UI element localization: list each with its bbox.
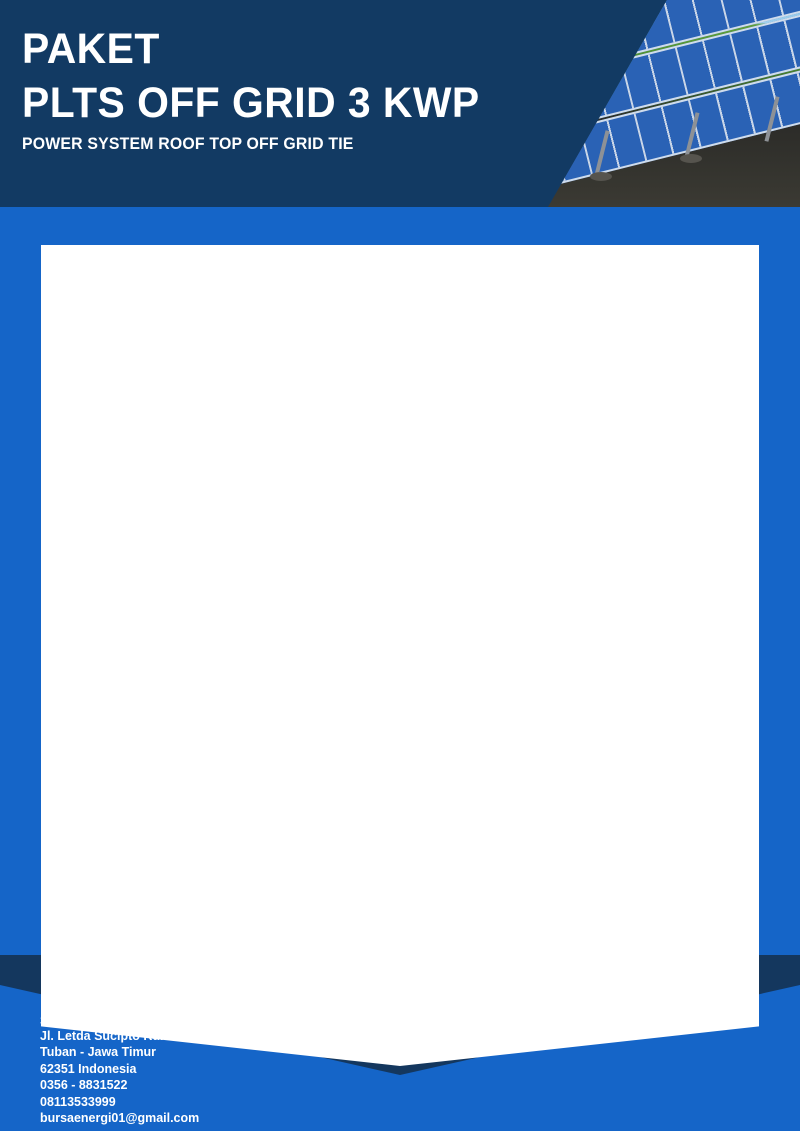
page-header: PAKET PLTS OFF GRID 3 KWP POWER SYSTEM R… <box>0 0 800 207</box>
header-eyebrow: PAKET <box>22 28 480 71</box>
header-text-block: PAKET PLTS OFF GRID 3 KWP POWER SYSTEM R… <box>22 28 504 154</box>
phone-1: 0356 - 8831522 <box>40 1077 209 1093</box>
address-line-2: Tuban - Jawa Timur <box>40 1044 209 1060</box>
content-card <box>41 245 759 1000</box>
page-title: PLTS OFF GRID 3 KWP <box>22 81 480 126</box>
company-name: SURYA PANEL INDONESIA <box>40 1013 209 1028</box>
address-line-1: Jl. Letda Sucipto Ruko No.5 <box>40 1028 209 1044</box>
header-subtitle: POWER SYSTEM ROOF TOP OFF GRID TIE <box>22 135 484 154</box>
email-address[interactable]: bursaenergi01@gmail.com <box>40 1110 209 1126</box>
footer-contact-block: SURYA PANEL INDONESIA Jl. Letda Sucipto … <box>40 1013 216 1126</box>
address-line-3: 62351 Indonesia <box>40 1061 209 1077</box>
phone-2: 08113533999 <box>40 1094 209 1110</box>
